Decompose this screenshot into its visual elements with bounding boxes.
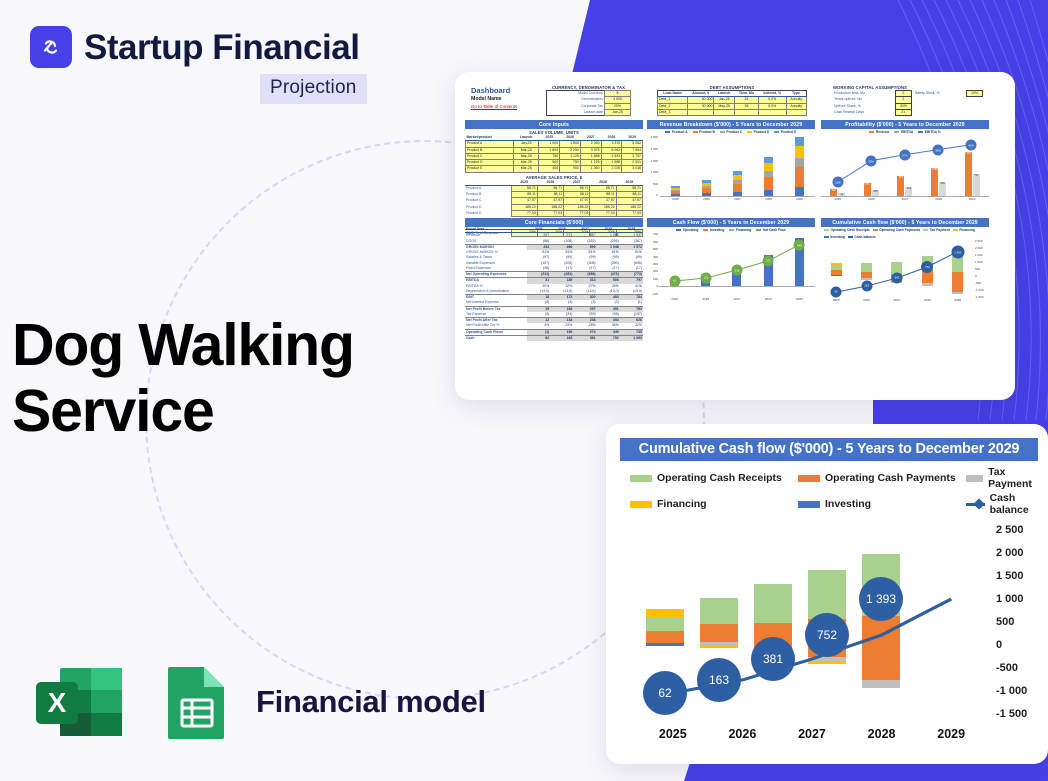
chart-plot-area: 2 500 2 000 1 500 1 000 500 0 -500 -1 00… <box>620 528 1038 723</box>
bar <box>702 180 711 196</box>
ebitda-pct-marker: 10% <box>833 177 844 188</box>
legend-item-financing: Financing <box>630 492 798 516</box>
table-row: Launch date Jan-25 <box>547 109 631 115</box>
microsoft-excel-icon: X <box>28 662 138 742</box>
row-value: 1 393 <box>620 335 643 341</box>
cumulative-small-xlabels: 2025 2026 2027 2028 2029 <box>821 298 973 302</box>
legend-swatch <box>630 475 652 482</box>
x-tick-2026: 2026 <box>708 727 778 741</box>
avg-price-table: 2025 2026 2027 2028 2029 Product A 58,71… <box>465 180 643 218</box>
legend-label: Operating Cash Payments <box>825 472 956 484</box>
row-value: 163 <box>550 335 573 341</box>
page-title: Dog Walking Service <box>12 312 432 444</box>
cash-balance-marker-2027: 381 <box>751 637 795 681</box>
net-cash-flow-marker: 640 <box>794 240 805 251</box>
net-cash-flow-marker: 101 <box>700 272 711 283</box>
bar <box>764 157 773 196</box>
cash-flow-title: Cash Flow ($'000) - 5 Years to December … <box>647 218 815 227</box>
cash-flow-xlabels: 2025 2026 2027 2028 2029 <box>659 297 815 301</box>
cash-balance-marker: 163 <box>861 280 872 291</box>
bar <box>733 171 742 196</box>
working-capital-table: Production time, Mo 2 Safety Stock, % 10… <box>833 90 983 116</box>
profitability-xlabels: 2025 2026 2027 2028 2029 <box>821 197 989 201</box>
cash-balance-marker: 381 <box>892 272 903 283</box>
sales-volume-table: Market/product Launch 2025 2026 2027 202… <box>465 135 643 173</box>
spreadsheet-thumbnail: Dashboard Model Name Go to Table of Cont… <box>461 80 1009 392</box>
legend-item-investing: Investing <box>798 492 966 516</box>
core-inputs-band: Core Inputs <box>465 120 643 129</box>
cumulative-small-yaxis: 2 500 2 000 1 500 1 000 500 0 -500 -1 00… <box>973 240 991 298</box>
cash-balance-line-small <box>821 240 973 298</box>
currency-table: Model Currency $ Denomination 1 000 Corp… <box>546 90 631 116</box>
currency-section-caption: CURRENCY, DENOMINATOR & TAX <box>546 85 631 90</box>
cash-balance-marker-2025: 62 <box>643 671 687 715</box>
legend-swatch <box>798 475 820 482</box>
dashboard-preview-card[interactable]: Dashboard Model Name Go to Table of Cont… <box>455 72 1015 400</box>
row-value: 381 <box>573 335 596 341</box>
bar <box>671 186 680 196</box>
cumulative-cash-flow-card[interactable]: Cumulative Cash flow ($'000) - 5 Years t… <box>606 424 1048 764</box>
core-financials-table: Fiscal Year 2025 2026 2027 2028 2029 Rev… <box>465 227 643 341</box>
chart-title: Cumulative Cash flow ($'000) - 5 Years t… <box>620 438 1038 461</box>
brand-subtitle-wrap: Projection <box>260 74 367 104</box>
chart-y-axis: 2 500 2 000 1 500 1 000 500 0 -500 -1 00… <box>988 528 1038 723</box>
revenue-breakdown-title: Revenue Breakdown ($'000) - 5 Years to D… <box>647 120 815 129</box>
google-sheets-icon <box>160 662 234 742</box>
legend-item-operating-cash-payments: Operating Cash Payments <box>798 466 966 490</box>
brand-logo-row: Startup Financial <box>30 26 359 68</box>
legend-label: Investing <box>825 498 871 510</box>
ebitda-pct-marker: 39% <box>933 145 944 156</box>
cash-balance-marker-2026: 163 <box>697 658 741 702</box>
svg-text:X: X <box>48 687 67 718</box>
ebitda-pct-marker: 41% <box>966 140 977 151</box>
legend-swatch <box>630 501 652 508</box>
legend-line-marker <box>966 499 985 509</box>
ebitda-pct-line <box>821 135 989 196</box>
x-tick-2029: 2029 <box>916 727 986 741</box>
cash-balance-marker: 62 <box>831 286 842 297</box>
chart-legend: Operating Cash Receipts Operating Cash P… <box>620 461 1038 516</box>
legend-label: Operating Cash Receipts <box>657 472 782 484</box>
cash-balance-marker: 1 393 <box>951 246 964 259</box>
brand-name: Startup Financial <box>84 30 359 65</box>
legend-swatch <box>966 475 983 482</box>
profitability-title: Profitability ($'000) - 5 Years to Decem… <box>821 120 989 129</box>
net-cash-flow-marker: 371 <box>763 255 774 266</box>
legend-item-operating-cash-receipts: Operating Cash Receipts <box>630 466 798 490</box>
revenue-breakdown-xlabels: 2025 2026 2027 2028 2029 <box>660 197 815 201</box>
table-row: Product E Mar-25 400 900 1 350 2 025 3 0… <box>466 166 643 172</box>
row-value: 62 <box>527 335 550 341</box>
brand-subtitle: Projection <box>260 74 367 104</box>
row-value: 752 <box>597 335 620 341</box>
legend-label: Financing <box>657 498 707 510</box>
financial-model-row: X Financial model <box>28 662 486 742</box>
bar <box>795 137 804 196</box>
financial-model-label: Financial model <box>256 684 486 720</box>
legend-label: Cash balance <box>990 492 1038 516</box>
revenue-breakdown-yaxis: 2 500 2 000 1 500 1 000 500 0 <box>647 135 659 196</box>
net-cash-flow-marker: 62 <box>669 275 680 286</box>
legend-item-tax-payment: Tax Payment <box>966 466 1038 490</box>
ebitda-pct-marker: 37% <box>900 150 911 161</box>
net-cash-flow-marker: 218 <box>732 265 743 276</box>
row-label: Cash <box>465 335 527 341</box>
core-financials-body: Revenue2975718571 0851 937COGS(56)(108)(… <box>465 233 643 341</box>
cash-balance-marker-2029: 1 393 <box>859 577 903 621</box>
legend-item-cash-balance: Cash balance <box>966 492 1038 516</box>
x-tick-2028: 2028 <box>847 727 917 741</box>
legend-swatch <box>798 501 820 508</box>
chart-bars-area: 62 163 381 752 1 393 <box>638 528 986 723</box>
cash-balance-marker-2028: 752 <box>805 613 849 657</box>
cumulative-small-title: Cumulative Cash flow ($'000) - 5 Years t… <box>821 218 989 227</box>
cash-flow-yaxis: 700 600 500 400 300 200 100 0 -100 <box>647 233 659 295</box>
core-financials-band: Core Financials ($'000) <box>465 218 643 227</box>
legend-label: Tax Payment <box>988 466 1038 490</box>
model-name-label: Model Name <box>471 96 502 102</box>
cash-balance-marker: 752 <box>921 261 933 273</box>
table-row: Cash621633817521 393 <box>465 335 643 341</box>
chart-x-axis: 2025 2026 2027 2028 2029 <box>638 727 1020 741</box>
debt-table: Loan Name Amount, $ Launch Term, Mo Inte… <box>657 90 807 116</box>
revenue-breakdown-bars <box>660 135 815 196</box>
x-tick-2025: 2025 <box>638 727 708 741</box>
table-row: Cash Receipt Days 21 <box>833 109 983 115</box>
cumulative-small-legend: Operating Cash Receipts Operating Cash P… <box>821 227 989 240</box>
ebitda-pct-marker: 32% <box>866 156 877 167</box>
dashboard-heading: Dashboard <box>471 86 510 95</box>
table-row: Product E 77,03 77,03 77,03 77,03 77,03 <box>465 210 643 216</box>
table-of-contents-link[interactable]: Go to Table of Contents <box>471 104 517 109</box>
x-tick-2027: 2027 <box>777 727 847 741</box>
table-row: Debt_3 <box>658 109 807 115</box>
brand-e-logo-icon <box>30 26 72 68</box>
